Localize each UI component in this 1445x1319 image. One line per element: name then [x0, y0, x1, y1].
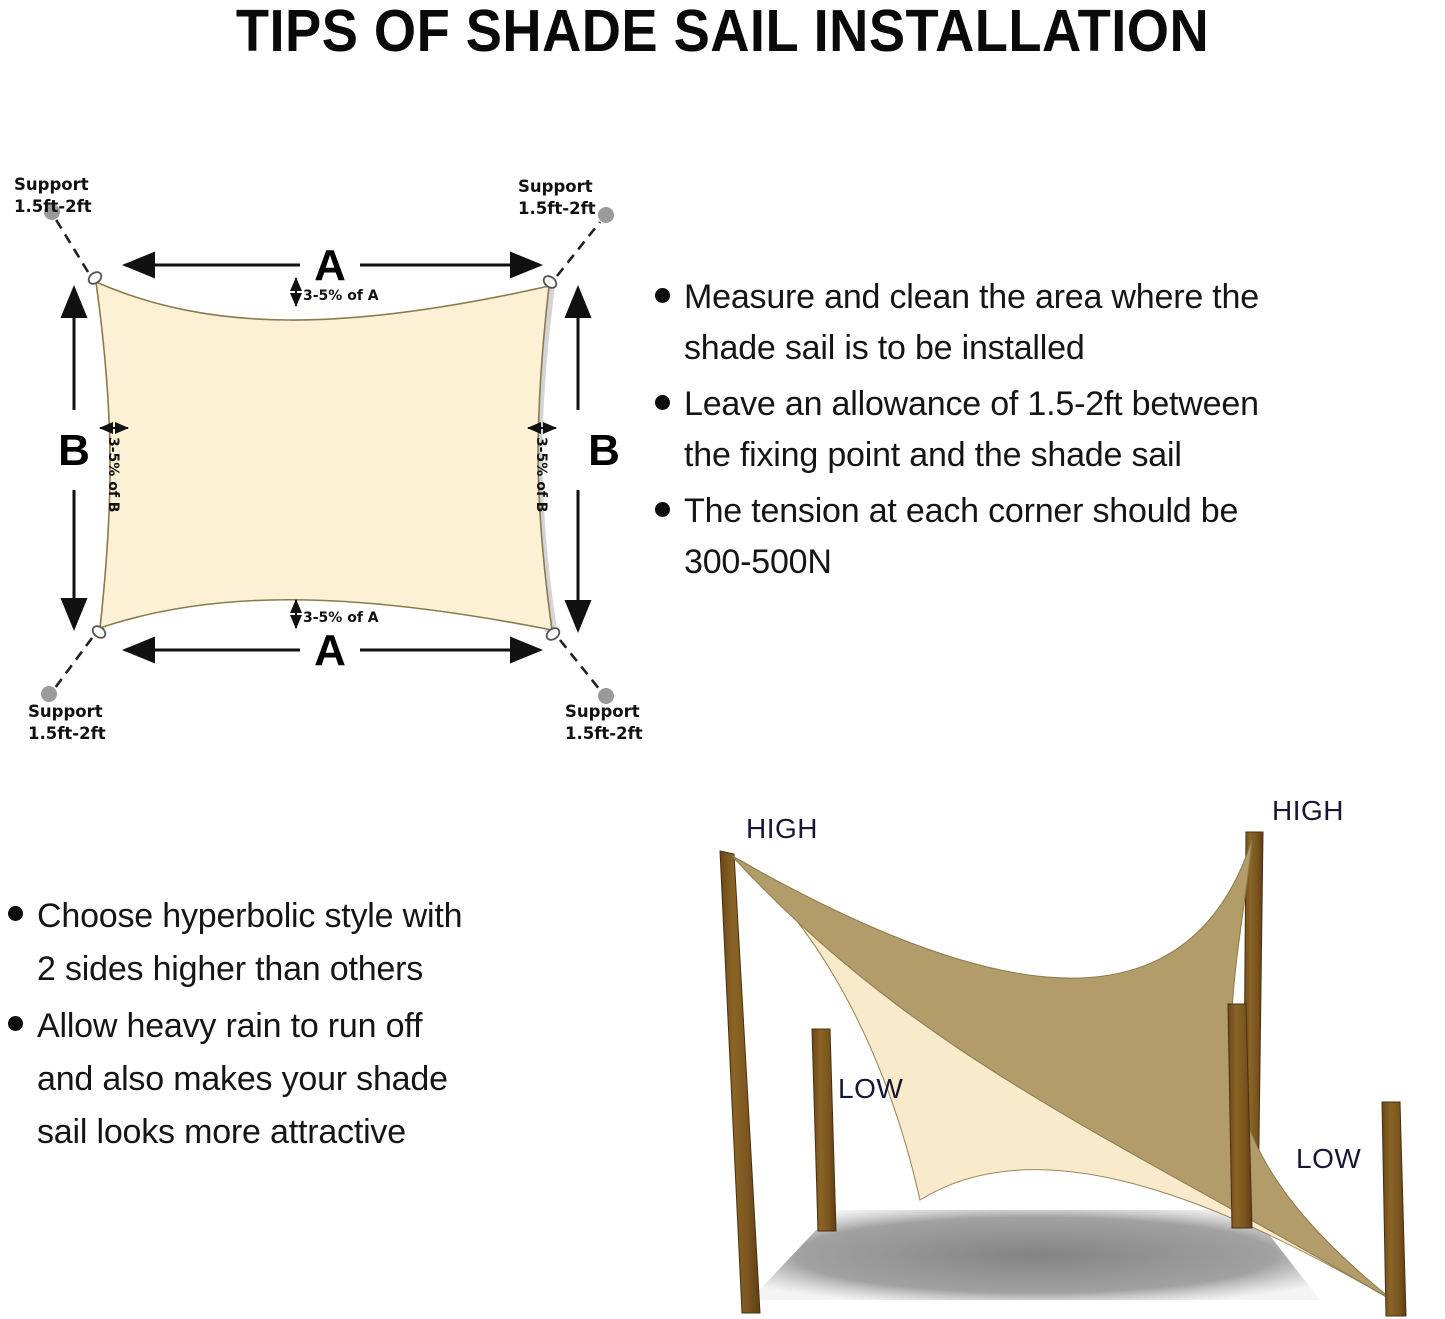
bullet-dot-icon — [655, 502, 670, 517]
support-label-bottom-left-line1: Support — [28, 702, 103, 721]
bullet-dot-icon — [655, 288, 670, 303]
support-label-bottom-right-line1: Support — [565, 702, 640, 721]
bullet-dot-icon — [655, 395, 670, 410]
curve-note-right: 3-5% of B — [533, 437, 549, 512]
support-label-top-right: Support 1.5ft-2ft — [518, 177, 596, 218]
hyperbolic-tips-list: Choose hyperbolic style with 2 sides hig… — [0, 890, 625, 1163]
list-item: Leave an allowance of 1.5-2ft between th… — [655, 379, 1445, 481]
support-line-bottom-right — [560, 640, 600, 690]
list-item: Allow heavy rain to run off and also mak… — [0, 1000, 625, 1159]
support-label-bottom-left: Support 1.5ft-2ft — [28, 702, 106, 740]
support-label-bottom-left-line2: 1.5ft-2ft — [28, 724, 106, 740]
support-label-top-right-line2: 1.5ft-2ft — [518, 199, 596, 218]
bullet-dot-icon — [8, 906, 23, 921]
support-label-bottom-right: Support 1.5ft-2ft — [565, 702, 643, 740]
list-item: Measure and clean the area where the sha… — [655, 272, 1445, 374]
post-low-right — [1382, 1102, 1406, 1316]
support-label-top-left-line2: 1.5ft-2ft — [14, 197, 92, 216]
support-label-top-right-line1: Support — [518, 177, 593, 196]
curve-note-left: 3-5% of B — [105, 437, 121, 512]
rectangular-sail-diagram: A 3-5% of A A 3-5% of A B 3-5% of B B 3-… — [0, 160, 660, 740]
tip-text: The tension at each corner should be 300… — [684, 486, 1238, 588]
support-line-top-right — [557, 222, 600, 276]
support-line-top-left — [55, 218, 88, 272]
label-high-right: HIGH — [1272, 795, 1344, 826]
tip-text: Measure and clean the area where the sha… — [684, 272, 1259, 374]
label-low-right: LOW — [1296, 1143, 1361, 1174]
dimension-label-b-right: B — [588, 426, 620, 475]
page-title: TIPS OF SHADE SAIL INSTALLATION — [58, 0, 1387, 62]
curve-note-top: 3-5% of A — [303, 288, 379, 304]
support-line-bottom-left — [55, 638, 92, 688]
label-low-left: LOW — [838, 1073, 903, 1104]
post-high-left — [720, 851, 760, 1313]
bullet-dot-icon — [8, 1016, 23, 1031]
dimension-label-b-left: B — [58, 426, 90, 475]
tip-text: Leave an allowance of 1.5-2ft between th… — [684, 379, 1259, 481]
list-item: Choose hyperbolic style with 2 sides hig… — [0, 890, 625, 996]
dimension-label-a-bottom: A — [314, 626, 346, 675]
list-item: The tension at each corner should be 300… — [655, 486, 1445, 588]
dimension-label-a-top: A — [314, 241, 346, 290]
tip-text: Choose hyperbolic style with 2 sides hig… — [37, 890, 462, 996]
post-low-left — [812, 1029, 836, 1231]
label-high-left: HIGH — [746, 813, 818, 844]
support-dot-bottom-left — [41, 686, 57, 702]
support-label-top-left-line1: Support — [14, 175, 89, 194]
shade-sail-fabric — [96, 282, 552, 630]
curve-note-bottom: 3-5% of A — [303, 610, 379, 626]
support-dot-top-right — [598, 207, 614, 223]
support-label-bottom-right-line2: 1.5ft-2ft — [565, 724, 643, 740]
tip-text: Allow heavy rain to run off and also mak… — [37, 1000, 448, 1159]
hyperbolic-sail-illustration: HIGH HIGH LOW LOW — [620, 780, 1445, 1319]
installation-tips-list: Measure and clean the area where the sha… — [655, 272, 1445, 593]
support-label-top-left: Support 1.5ft-2ft — [14, 175, 92, 216]
